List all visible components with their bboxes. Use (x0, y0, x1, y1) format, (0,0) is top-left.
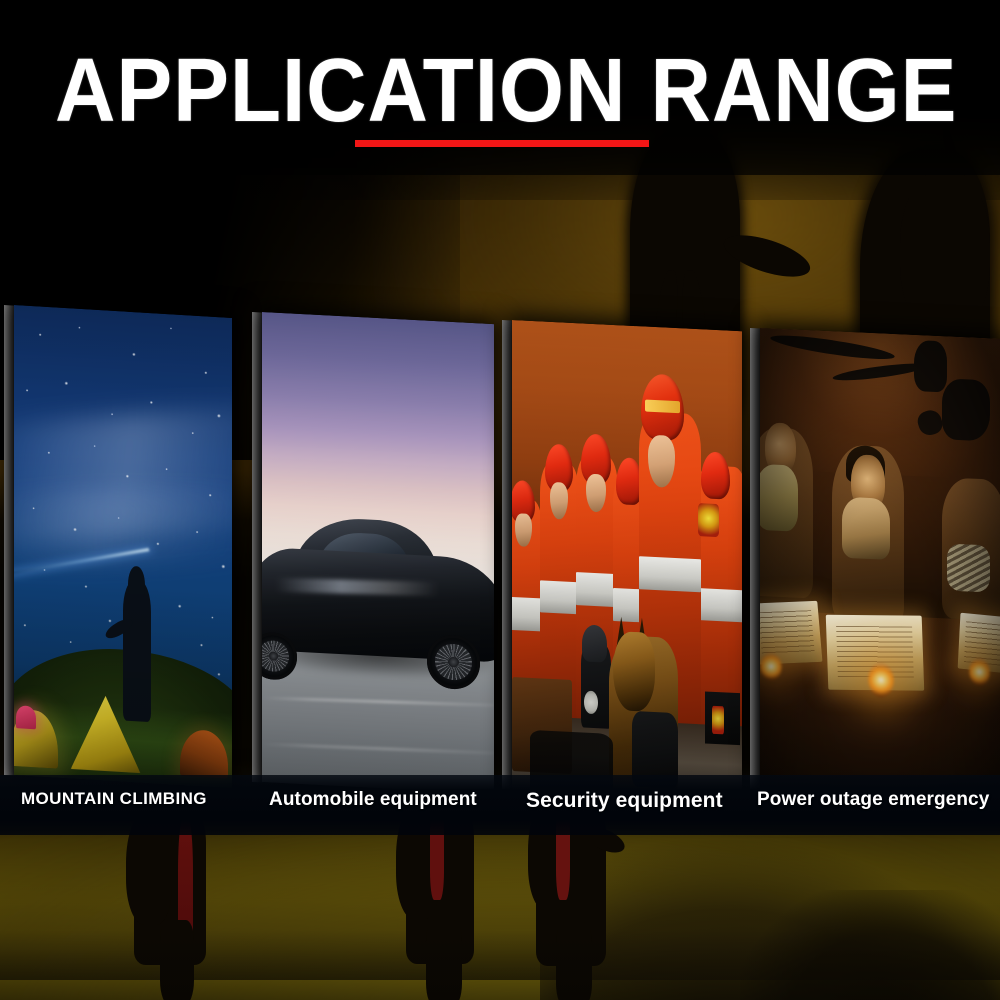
panel-face-1 (14, 305, 232, 788)
hiker-head (128, 566, 144, 605)
rescuer-6-reflective-stripe (696, 588, 742, 623)
rescuer-1-reflective-stripe (512, 597, 542, 632)
rescuer-1-face (515, 513, 531, 547)
panel-automobile-equipment[interactable] (262, 312, 494, 782)
application-range-banner: APPLICATION RANGE (0, 0, 1000, 1000)
page-title: APPLICATION RANGE (55, 46, 957, 136)
panel-mountain-climbing[interactable] (14, 305, 232, 775)
rescuer-3-reflective-stripe (576, 572, 617, 607)
search-dog-head (613, 630, 654, 712)
panel-strip (0, 288, 1000, 828)
car-wheel-front-hub (448, 656, 459, 667)
caption-security-equipment: Security equipment (526, 789, 723, 813)
panel-security-equipment[interactable] (512, 320, 742, 790)
panel-face-2 (262, 312, 494, 794)
title-underline (355, 140, 649, 147)
caption-mountain-climbing: MOUNTAIN CLIMBING (21, 789, 207, 809)
caption-power-outage-emergency: Power outage emergency (757, 789, 989, 811)
panel-face-3 (512, 320, 742, 801)
panel-face-4 (760, 328, 1000, 809)
rescuer-lead-helmet-stripe (645, 400, 680, 413)
chinese-star-emblem (712, 706, 724, 735)
panel-power-outage-emergency[interactable] (760, 328, 1000, 798)
rescuer-2-reflective-stripe (540, 580, 579, 615)
rescuer-lead-reflective-stripe (639, 556, 701, 592)
background-bottom-vignette (0, 930, 1000, 1000)
caption-automobile-equipment: Automobile equipment (269, 789, 477, 811)
panel-4-vignette (760, 328, 1000, 809)
rescuer-lead-shoulder-badge (698, 503, 719, 537)
